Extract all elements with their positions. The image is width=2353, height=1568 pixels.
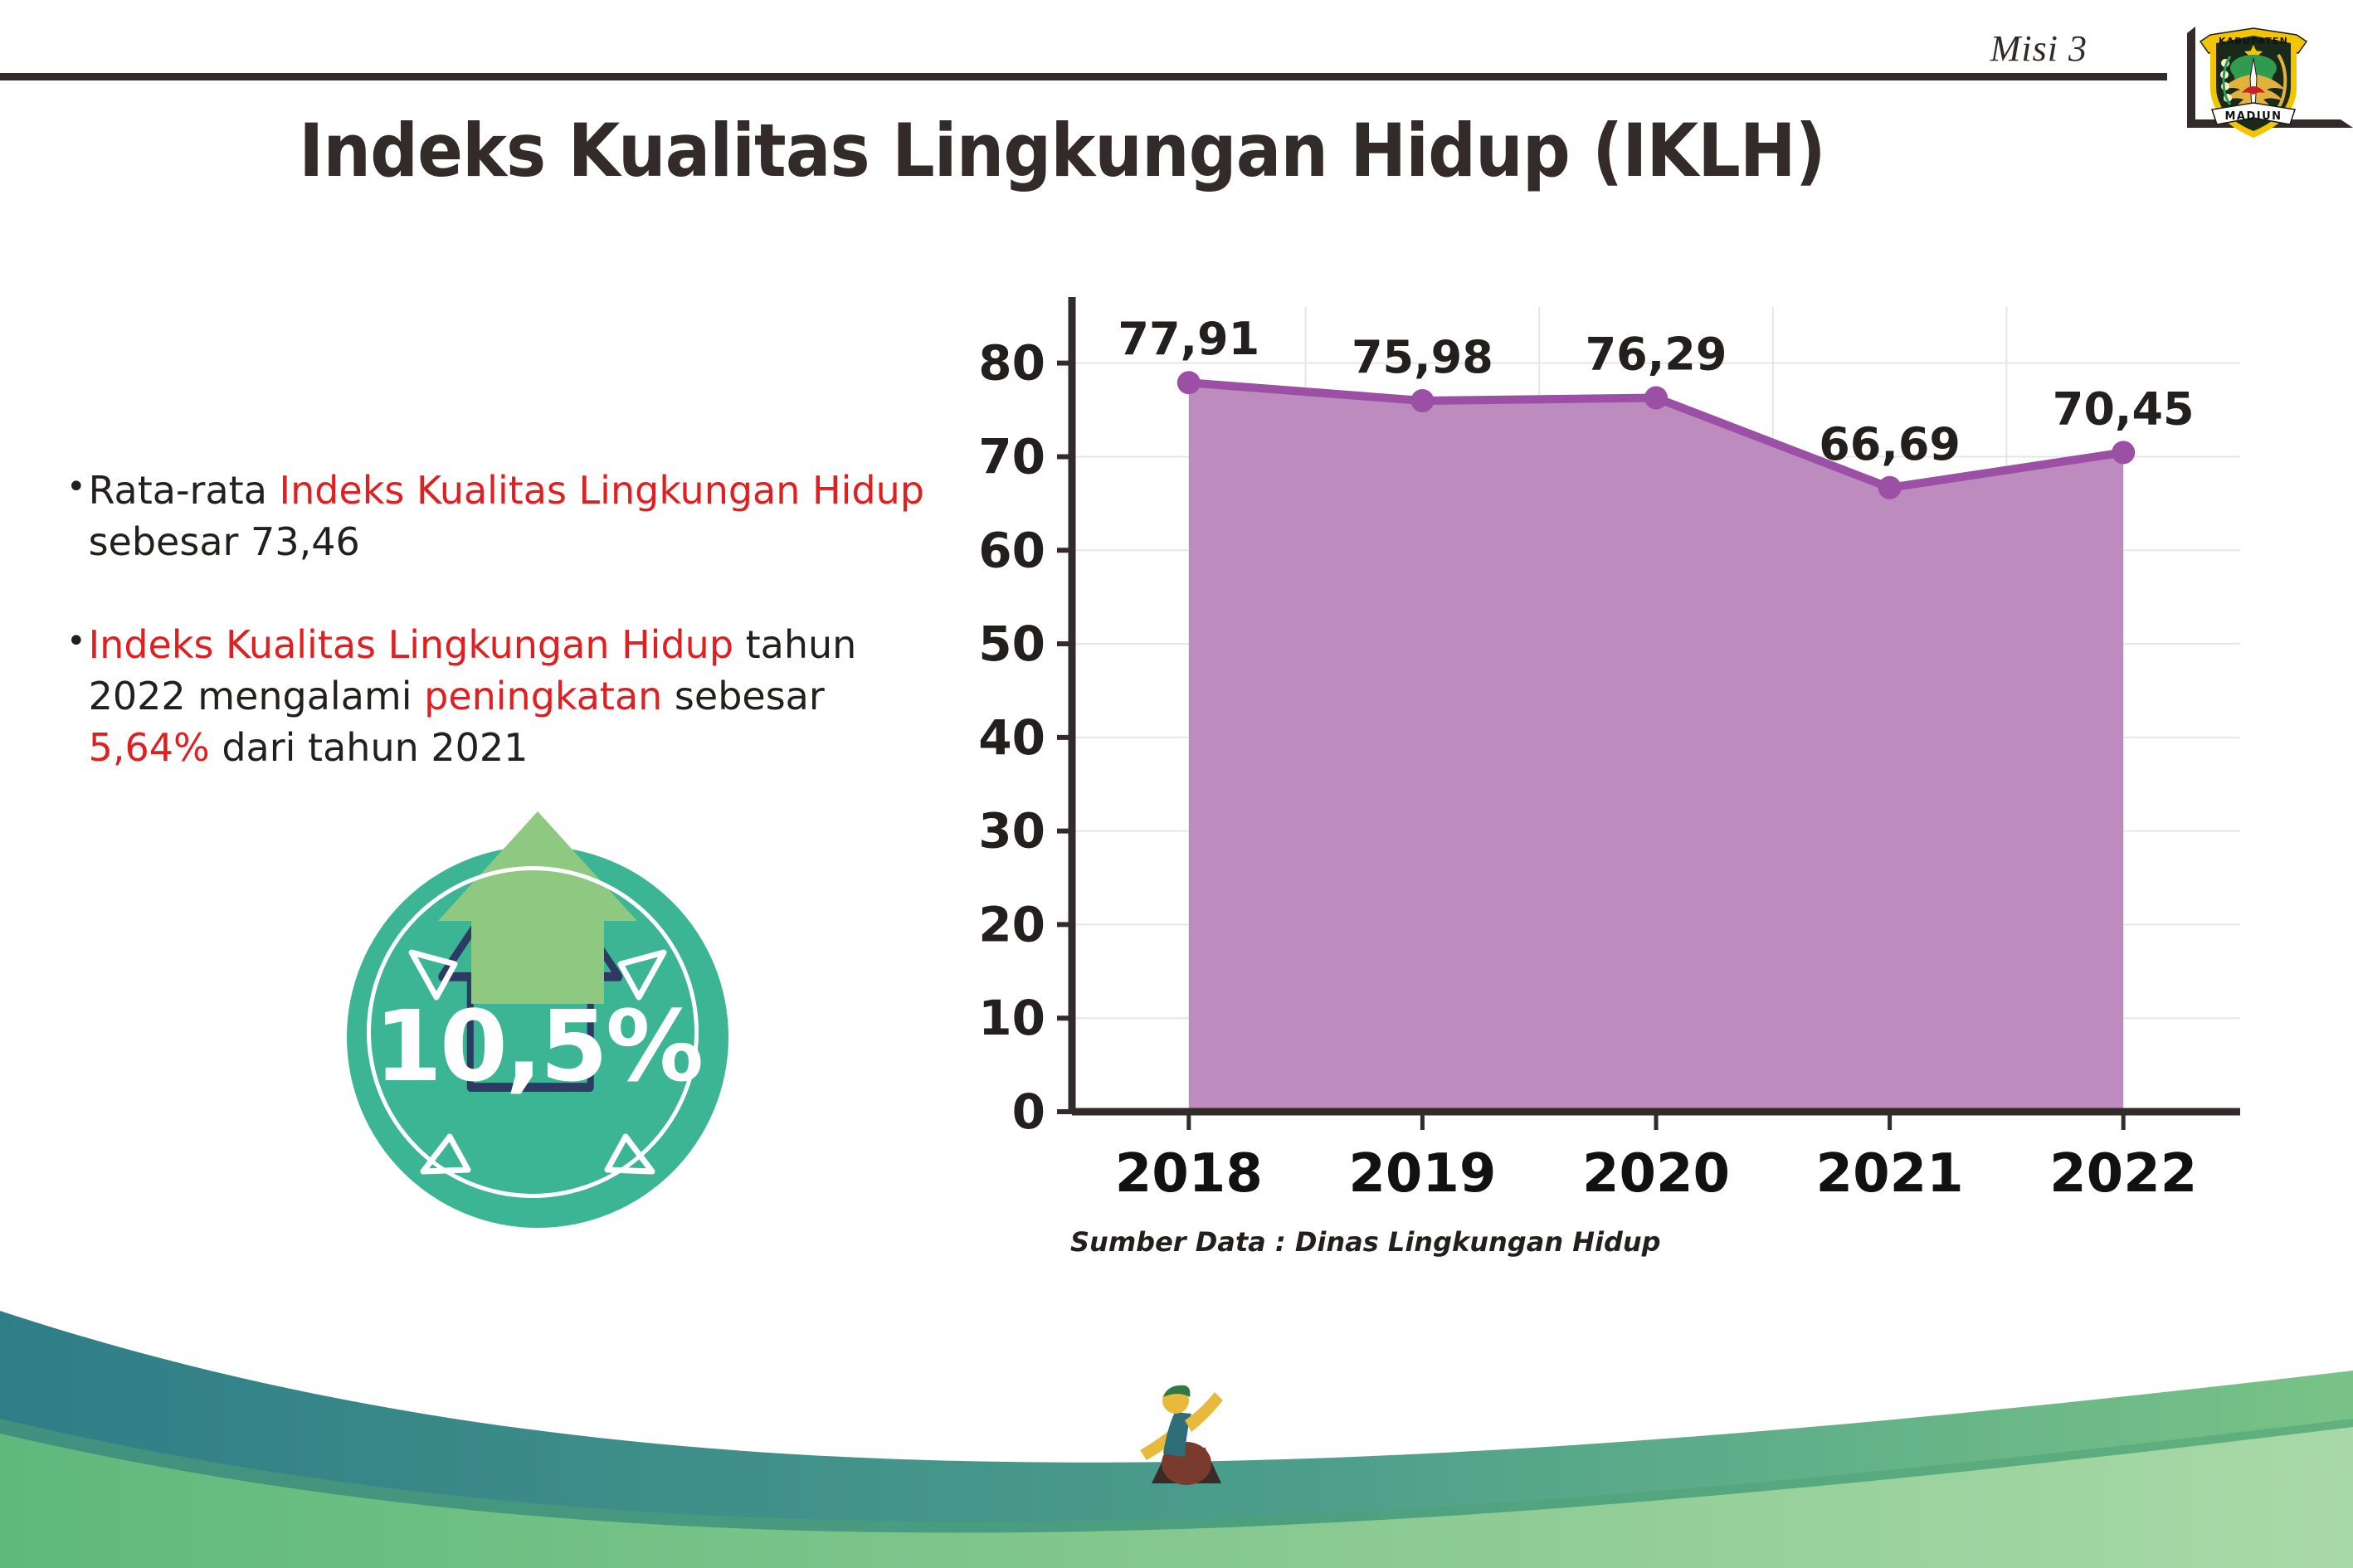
list-item: • Indeks Kualitas Lingkungan Hidup tahun… [66,619,946,773]
statistics-figure-icon [1138,1377,1230,1485]
svg-text:KABUPATEN: KABUPATEN [2219,36,2288,46]
increase-badge: 10,5% [330,763,745,1195]
data-point-label: 76,29 [1586,329,1727,381]
chart-source-note: Sumber Data : Dinas Lingkungan Hidup [1070,1226,1661,1258]
highlighted-phrase: Indeks Kualitas Lingkungan Hidup [280,468,924,513]
data-point-marker [1878,476,1902,499]
x-axis-tick-label: 2021 [1816,1143,1964,1203]
kabupaten-madiun-crest-logo: MADIUN KABUPATEN [2192,17,2315,143]
data-point-marker [1177,371,1201,394]
data-point-marker [2112,441,2135,464]
data-point-label: 75,98 [1352,331,1493,383]
x-axis-tick-label: 2020 [1582,1143,1730,1203]
list-item: • Rata-rata Indeks Kualitas Lingkungan H… [66,465,946,567]
area-fill [1189,382,2123,1112]
x-axis-tick-label: 2019 [1348,1143,1496,1203]
plain-phrase: sebesar 73,46 [89,519,360,564]
y-axis-tick-label: 0 [1012,1083,1045,1140]
bullet-text: Rata-rata Indeks Kualitas Lingkungan Hid… [89,465,946,567]
iklh-area-chart: 77,9175,9876,2966,6970,45010203040506070… [979,282,2273,1203]
bullet-marker-icon: • [66,619,86,664]
plain-phrase: Rata-rata [89,468,280,513]
y-axis-tick-label: 50 [979,616,1045,672]
highlighted-phrase: peningkatan [424,674,662,718]
y-axis-tick-label: 30 [979,803,1045,859]
page-title: Indeks Kualitas Lingkungan Hidup (IKLH) [85,108,2039,193]
y-axis-tick-label: 20 [979,896,1045,952]
data-point-label: 66,69 [1819,418,1961,470]
svg-text:MADIUN: MADIUN [2224,110,2282,123]
y-axis-tick-label: 70 [979,428,1045,485]
x-axis-tick-label: 2018 [1115,1143,1263,1203]
y-axis-tick-label: 80 [979,335,1045,392]
header-divider-line [0,73,2167,80]
badge-value-label: 10,5% [330,989,745,1103]
plain-phrase: sebesar [662,674,824,718]
data-point-marker [1410,389,1434,412]
data-point-label: 77,91 [1118,313,1259,365]
y-axis-tick-label: 40 [979,709,1045,766]
x-axis-tick-label: 2022 [2049,1143,2197,1203]
bullet-marker-icon: • [66,465,86,509]
data-point-marker [1644,387,1668,410]
data-point-label: 70,45 [2053,382,2195,435]
y-axis-tick-label: 10 [979,990,1045,1046]
misi-label: Misi 3 [1990,27,2087,70]
y-axis-tick-label: 60 [979,522,1045,578]
highlighted-phrase: 5,64% [89,725,210,770]
chart-canvas: 77,9175,9876,2966,6970,45010203040506070… [979,282,2273,1203]
highlighted-phrase: Indeks Kualitas Lingkungan Hidup [89,622,733,667]
bullet-text: Indeks Kualitas Lingkungan Hidup tahun 2… [89,619,946,773]
